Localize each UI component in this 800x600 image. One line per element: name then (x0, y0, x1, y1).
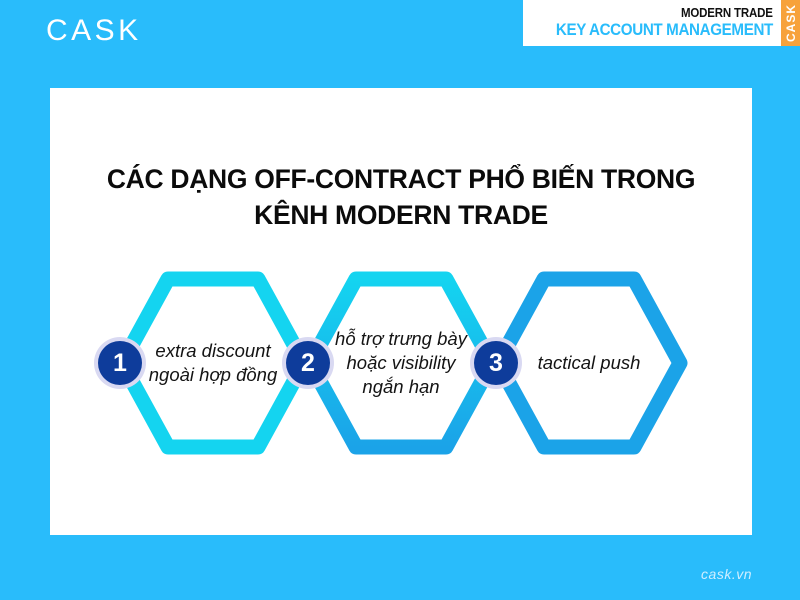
course-badge-text: MODERN TRADE KEY ACCOUNT MANAGEMENT (523, 0, 781, 46)
page-title: CÁC DẠNG OFF-CONTRACT PHỔ BIẾN TRONG KÊN… (80, 162, 722, 234)
course-badge-strip: CASK (781, 0, 800, 46)
slide-canvas: CASK MODERN TRADE KEY ACCOUNT MANAGEMENT… (0, 0, 800, 600)
step-number-3: 3 (474, 341, 518, 385)
course-badge-strip-label: CASK (784, 4, 798, 42)
step-number-2: 2 (286, 341, 330, 385)
site-footer: cask.vn (701, 566, 752, 582)
course-badge: MODERN TRADE KEY ACCOUNT MANAGEMENT CASK (523, 0, 800, 46)
brand-logo: CASK (46, 16, 142, 46)
step-number-badge-1[interactable]: 1 (94, 337, 146, 389)
process-hexagon-row: extra discount ngoài hợp đồng hỗ trợ trư… (50, 266, 752, 466)
content-card: CÁC DẠNG OFF-CONTRACT PHỔ BIẾN TRONG KÊN… (50, 88, 752, 535)
course-badge-line2: KEY ACCOUNT MANAGEMENT (556, 21, 773, 40)
step-number-badge-3[interactable]: 3 (470, 337, 522, 389)
step-number-badge-2[interactable]: 2 (282, 337, 334, 389)
course-badge-line1: MODERN TRADE (681, 6, 773, 20)
step-number-1: 1 (98, 341, 142, 385)
